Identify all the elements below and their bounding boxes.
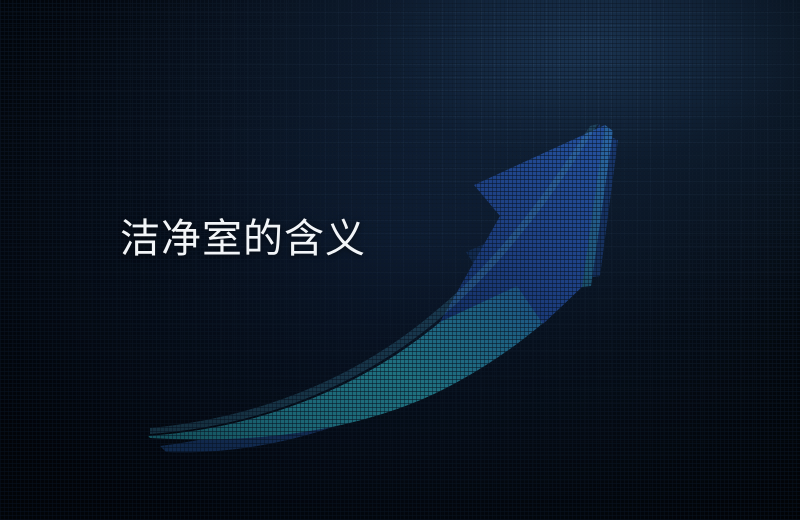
page-title: 洁净室的含义 [120,216,366,262]
slide-canvas: 洁净室的含义 [0,0,800,520]
